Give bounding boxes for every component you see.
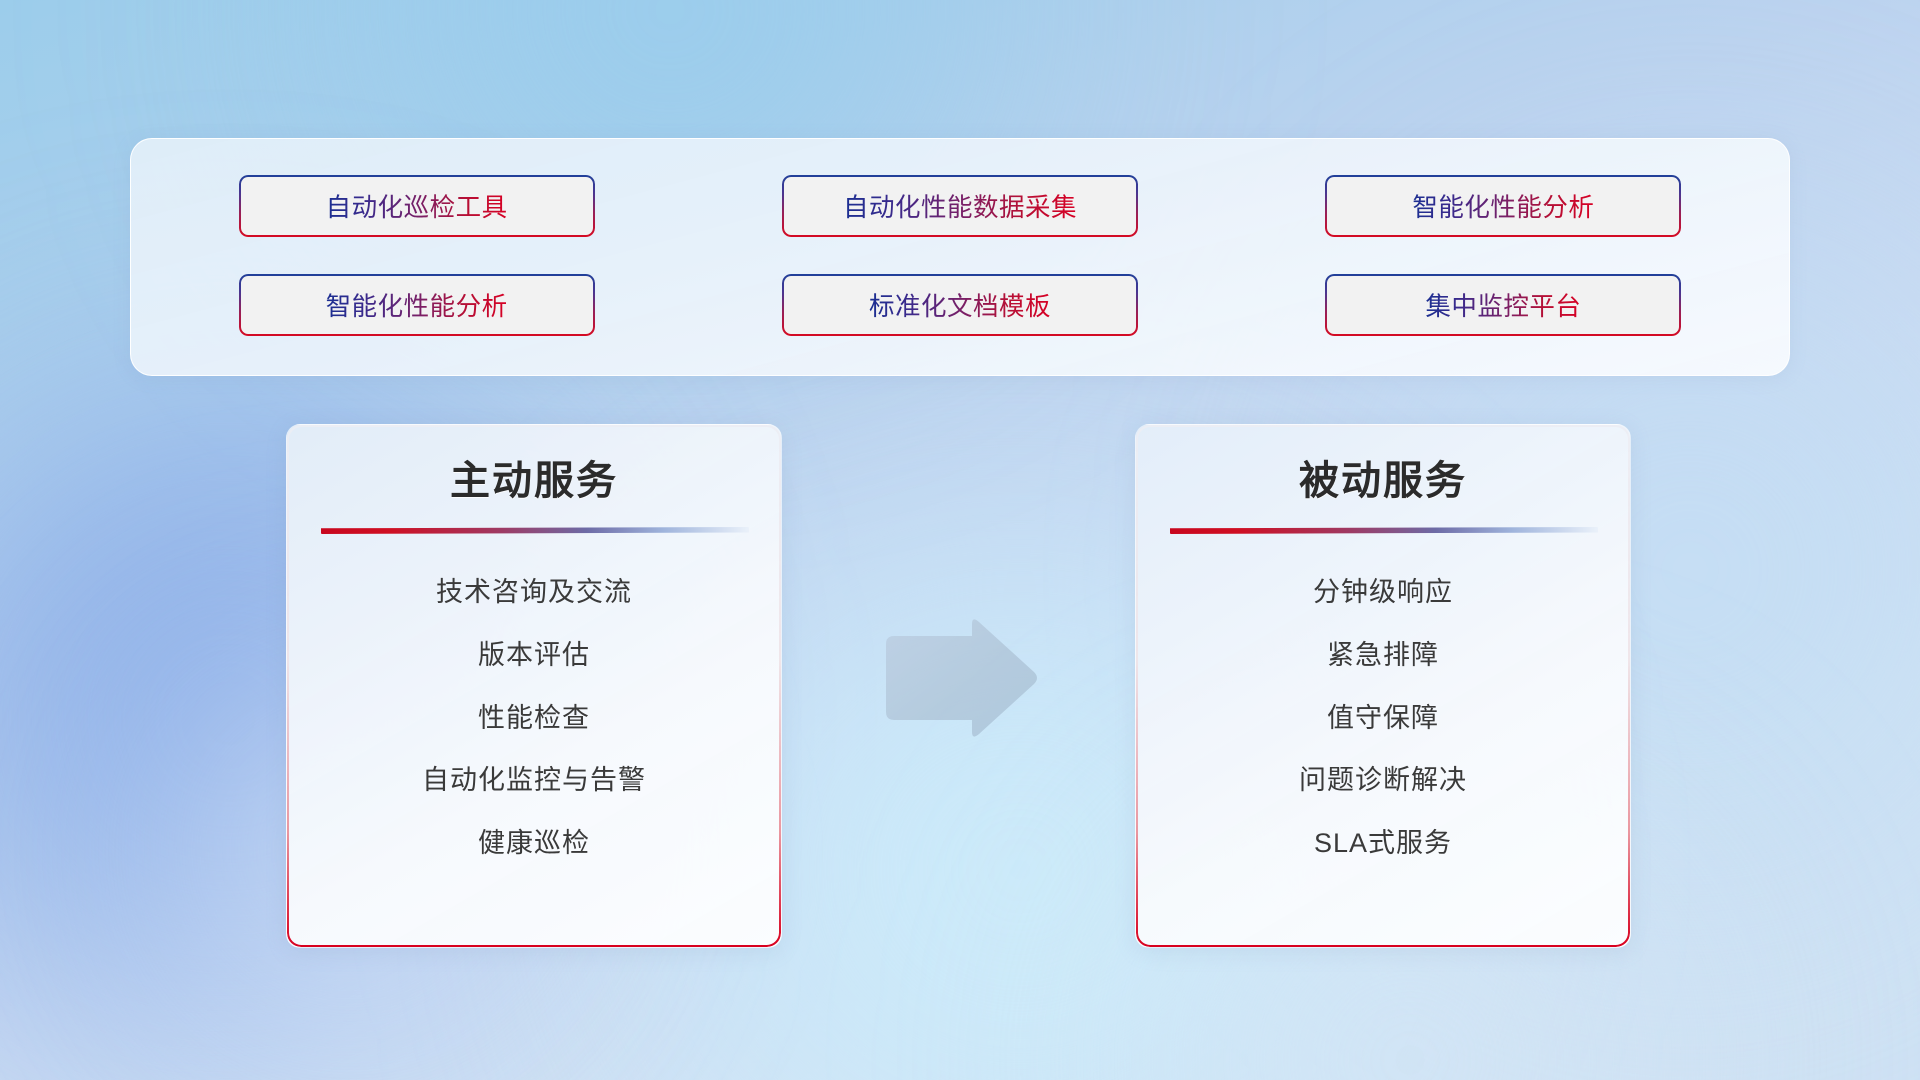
service-list-item: 健康巡检 [321,827,747,861]
service-list-item: 分钟级响应 [1170,576,1596,610]
service-card-content: 被动服务 分钟级响应 紧急排障 值守保障 问题诊断解决 SLA式服务 [1136,425,1630,947]
slide-stage: 自动化巡检工具 自动化性能数据采集 智能化性能分析 智能化性能分析 标准化文档模… [0,0,1920,1080]
service-list-item: 问题诊断解决 [1170,764,1596,798]
capability-tag-2[interactable]: 自动化性能数据采集 [782,175,1138,237]
service-card-content: 主动服务 技术咨询及交流 版本评估 性能检查 自动化监控与告警 健康巡检 [287,425,781,947]
capability-tag-label: 自动化性能数据采集 [843,187,1077,224]
capability-tag-5[interactable]: 标准化文档模板 [782,274,1138,336]
arrow-right-icon [880,618,1040,738]
capability-tag-label: 标准化文档模板 [869,286,1051,323]
capability-tag-label: 集中监控平台 [1425,286,1581,323]
service-list-item: 技术咨询及交流 [321,576,747,610]
title-underline-rule [1170,527,1598,534]
capability-tag-grid: 自动化巡检工具 自动化性能数据采集 智能化性能分析 智能化性能分析 标准化文档模… [131,139,1789,375]
service-list-item: SLA式服务 [1170,827,1596,861]
capability-tag-label: 智能化性能分析 [1412,187,1594,224]
capability-tag-label: 智能化性能分析 [326,286,508,323]
service-list-item: 性能检查 [321,702,747,736]
title-underline-rule [321,527,749,534]
capability-tag-1[interactable]: 自动化巡检工具 [239,175,595,237]
service-list-item: 版本评估 [321,639,747,673]
capability-tag-label: 自动化巡检工具 [326,187,508,224]
service-item-list: 分钟级响应 紧急排障 值守保障 问题诊断解决 SLA式服务 [1170,576,1596,861]
capability-tag-6[interactable]: 集中监控平台 [1325,274,1681,336]
service-list-item: 自动化监控与告警 [321,764,747,798]
service-list-item: 值守保障 [1170,702,1596,736]
service-list-item: 紧急排障 [1170,639,1596,673]
capability-tag-4[interactable]: 智能化性能分析 [239,274,595,336]
capability-tag-3[interactable]: 智能化性能分析 [1325,175,1681,237]
service-card-proactive[interactable]: 主动服务 技术咨询及交流 版本评估 性能检查 自动化监控与告警 健康巡检 [286,424,782,948]
service-card-reactive[interactable]: 被动服务 分钟级响应 紧急排障 值守保障 问题诊断解决 SLA式服务 [1135,424,1631,948]
capability-panel: 自动化巡检工具 自动化性能数据采集 智能化性能分析 智能化性能分析 标准化文档模… [130,138,1790,376]
service-card-title: 主动服务 [321,457,747,505]
service-item-list: 技术咨询及交流 版本评估 性能检查 自动化监控与告警 健康巡检 [321,576,747,861]
service-card-title: 被动服务 [1170,457,1596,505]
